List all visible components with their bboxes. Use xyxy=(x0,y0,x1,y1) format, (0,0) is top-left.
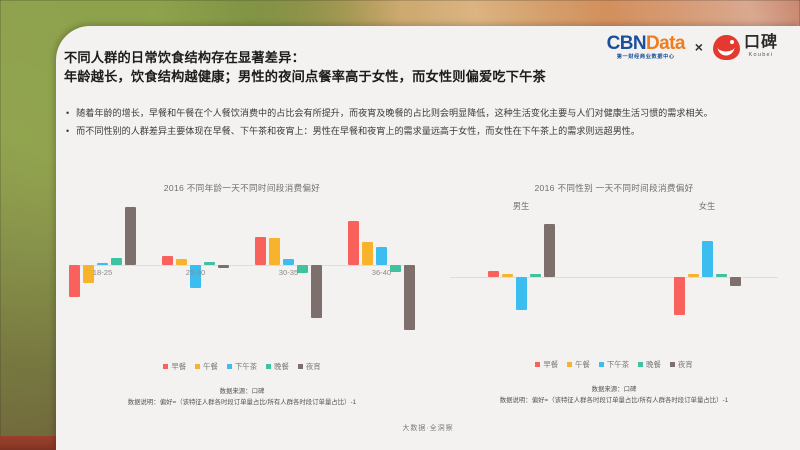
bar-column xyxy=(730,212,741,353)
list-item: • 随着年龄的增长，早餐和午餐在个人餐饮消费中的占比会有所提升，而夜宵及晚餐的占… xyxy=(66,106,764,121)
gender-chart-notes: 数据来源：口碑 数据说明：偏好=（该特征人群各时段订单量占比/所有人群各时段订单… xyxy=(428,384,800,406)
bar-column xyxy=(502,212,513,353)
bar-column xyxy=(218,200,229,355)
headline-line-2: 年龄越长，饮食结构越健康；男性的夜间点餐率高于女性，而女性则偏爱吃下午茶 xyxy=(64,67,772,86)
bar-夜宵 xyxy=(311,265,322,318)
bar-column xyxy=(544,212,555,353)
legend-label: 早餐 xyxy=(543,359,558,370)
legend-swatch-icon xyxy=(195,364,200,369)
gender-chart-source: 数据来源：口碑 xyxy=(428,384,800,395)
bar-group-label: 30-35 xyxy=(279,268,298,277)
age-chart-plot: 18-2525-3030-3536-40 xyxy=(56,200,428,355)
bar-group-label: 36-40 xyxy=(372,268,391,277)
legend-label: 下午茶 xyxy=(235,361,257,372)
gender-group-label: 女生 xyxy=(614,200,800,212)
legend-label: 夜宵 xyxy=(678,359,693,370)
bar-午餐 xyxy=(688,274,699,277)
legend-item[interactable]: 午餐 xyxy=(567,359,590,370)
age-chart-definition: 数据说明：偏好=（该特征人群各时段订单量占比/所有人群各时段订单量占比）-1 xyxy=(56,397,428,408)
age-chart-notes: 数据来源：口碑 数据说明：偏好=（该特征人群各时段订单量占比/所有人群各时段订单… xyxy=(56,386,428,408)
legend-item[interactable]: 午餐 xyxy=(195,361,218,372)
bar-column xyxy=(716,212,727,353)
bar-晚餐 xyxy=(716,274,727,277)
bar-column xyxy=(111,200,122,355)
legend-swatch-icon xyxy=(227,364,232,369)
legend-item[interactable]: 夜宵 xyxy=(298,361,321,372)
gender-chart-plot xyxy=(428,212,800,353)
bullet-text: 随着年龄的增长，早餐和午餐在个人餐饮消费中的占比会有所提升，而夜宵及晚餐的占比则… xyxy=(76,106,713,121)
legend-label: 夜宵 xyxy=(306,361,321,372)
gender-chart-legend: 早餐午餐下午茶晚餐夜宵 xyxy=(428,359,800,370)
legend-item[interactable]: 晚餐 xyxy=(638,359,661,370)
bar-下午茶 xyxy=(97,263,108,266)
legend-swatch-icon xyxy=(266,364,271,369)
bar-group: 30-35 xyxy=(242,200,335,355)
bar-晚餐 xyxy=(297,265,308,273)
bar-column xyxy=(376,200,387,355)
legend-item[interactable]: 晚餐 xyxy=(266,361,289,372)
bar-column xyxy=(190,200,201,355)
legend-item[interactable]: 早餐 xyxy=(535,359,558,370)
bar-晚餐 xyxy=(204,262,215,265)
legend-swatch-icon xyxy=(163,364,168,369)
bar-column xyxy=(702,212,713,353)
bar-夜宵 xyxy=(730,277,741,286)
gender-group-headings: 男生女生 xyxy=(428,200,800,212)
bar-晚餐 xyxy=(111,258,122,265)
gender-chart-block: 2016 不同性别 一天不同时间段消费偏好 男生女生 早餐午餐下午茶晚餐夜宵 数… xyxy=(428,182,800,408)
bar-晚餐 xyxy=(390,265,401,272)
bar-column xyxy=(530,212,541,353)
bullet-list: • 随着年龄的增长，早餐和午餐在个人餐饮消费中的占比会有所提升，而夜宵及晚餐的占… xyxy=(66,106,764,141)
bar-早餐 xyxy=(674,277,685,315)
page-title: 不同人群的日常饮食结构存在显著差异： 年龄越长，饮食结构越健康；男性的夜间点餐率… xyxy=(64,48,772,86)
legend-label: 早餐 xyxy=(171,361,186,372)
legend-swatch-icon xyxy=(298,364,303,369)
bar-夜宵 xyxy=(404,265,415,330)
legend-swatch-icon xyxy=(535,362,540,367)
bar-column xyxy=(404,200,415,355)
slide-card: CBNData 第一财经商业数据中心 × 口碑 Koubei 不同人群的日常饮食… xyxy=(56,26,800,450)
bullet-marker: • xyxy=(66,106,69,121)
gender-chart-bars xyxy=(428,212,800,353)
bar-column xyxy=(362,200,373,355)
bar-column xyxy=(688,212,699,353)
footer-tagline: 大数据·全洞察 xyxy=(56,423,800,433)
bar-column xyxy=(97,200,108,355)
list-item: • 而不同性别的人群差异主要体现在早餐、下午茶和夜宵上：男性在早餐和夜宵上的需求… xyxy=(66,124,764,139)
bar-早餐 xyxy=(162,256,173,265)
bar-午餐 xyxy=(176,259,187,265)
bar-column xyxy=(297,200,308,355)
bar-午餐 xyxy=(502,274,513,277)
bar-column xyxy=(488,212,499,353)
bar-column xyxy=(390,200,401,355)
bar-group-label: 25-30 xyxy=(186,268,205,277)
bar-夜宵 xyxy=(125,207,136,265)
bar-group: 18-25 xyxy=(56,200,149,355)
legend-item[interactable]: 早餐 xyxy=(163,361,186,372)
bar-column xyxy=(204,200,215,355)
bar-column xyxy=(83,200,94,355)
legend-item[interactable]: 下午茶 xyxy=(599,359,629,370)
bar-column xyxy=(269,200,280,355)
legend-label: 下午茶 xyxy=(607,359,629,370)
age-chart-block: 2016 不同年龄一天不同时间段消费偏好 18-2525-3030-3536-4… xyxy=(56,182,428,408)
bar-早餐 xyxy=(69,265,80,297)
age-chart-title: 2016 不同年龄一天不同时间段消费偏好 xyxy=(56,182,428,194)
bar-早餐 xyxy=(348,221,359,265)
gender-group-label: 男生 xyxy=(428,200,614,212)
bar-column xyxy=(311,200,322,355)
legend-label: 午餐 xyxy=(203,361,218,372)
bar-夜宵 xyxy=(218,265,229,268)
bar-group xyxy=(428,212,614,353)
bar-午餐 xyxy=(362,242,373,265)
bar-column xyxy=(516,212,527,353)
bullet-text: 而不同性别的人群差异主要体现在早餐、下午茶和夜宵上：男性在早餐和夜宵上的需求量远… xyxy=(76,124,640,139)
bar-早餐 xyxy=(488,271,499,277)
bar-column xyxy=(348,200,359,355)
bar-午餐 xyxy=(269,238,280,265)
bar-column xyxy=(255,200,266,355)
bullet-marker: • xyxy=(66,124,69,139)
bar-下午茶 xyxy=(283,259,294,265)
bar-夜宵 xyxy=(544,224,555,277)
bar-column xyxy=(176,200,187,355)
bar-下午茶 xyxy=(376,247,387,265)
bar-column xyxy=(162,200,173,355)
headline-line-1: 不同人群的日常饮食结构存在显著差异： xyxy=(64,48,772,67)
legend-label: 晚餐 xyxy=(646,359,661,370)
age-chart-legend: 早餐午餐下午茶晚餐夜宵 xyxy=(56,361,428,372)
bar-group: 36-40 xyxy=(335,200,428,355)
bar-晚餐 xyxy=(530,274,541,277)
legend-swatch-icon xyxy=(638,362,643,367)
bar-column xyxy=(69,200,80,355)
legend-swatch-icon xyxy=(567,362,572,367)
legend-label: 午餐 xyxy=(575,359,590,370)
bar-下午茶 xyxy=(516,277,527,311)
gender-chart-title: 2016 不同性别 一天不同时间段消费偏好 xyxy=(428,182,800,194)
bar-column xyxy=(283,200,294,355)
gender-chart-definition: 数据说明：偏好=（该特征人群各时段订单量占比/所有人群各时段订单量占比）-1 xyxy=(428,395,800,406)
bar-group-label: 18-25 xyxy=(93,268,112,277)
bar-早餐 xyxy=(255,237,266,265)
legend-swatch-icon xyxy=(599,362,604,367)
legend-label: 晚餐 xyxy=(274,361,289,372)
bar-column xyxy=(125,200,136,355)
legend-item[interactable]: 下午茶 xyxy=(227,361,257,372)
bar-group: 25-30 xyxy=(149,200,242,355)
legend-swatch-icon xyxy=(670,362,675,367)
bar-column xyxy=(674,212,685,353)
bar-group xyxy=(614,212,800,353)
charts-container: 2016 不同年龄一天不同时间段消费偏好 18-2525-3030-3536-4… xyxy=(56,182,800,408)
age-chart-bars: 18-2525-3030-3536-40 xyxy=(56,200,428,355)
bar-下午茶 xyxy=(702,241,713,277)
legend-item[interactable]: 夜宵 xyxy=(670,359,693,370)
age-chart-source: 数据来源：口碑 xyxy=(56,386,428,397)
